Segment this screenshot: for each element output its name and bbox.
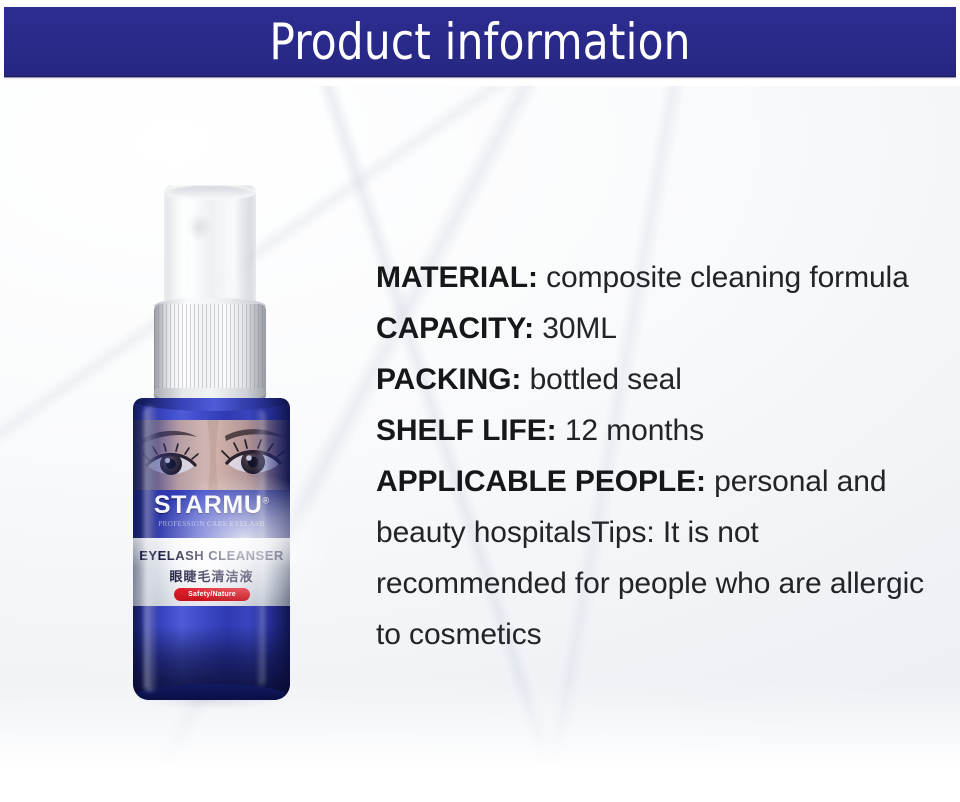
spec-label-capacity: CAPACITY: xyxy=(376,312,534,345)
brand-tagline: PROFESSION CARE EYELASH xyxy=(133,520,290,528)
spec-row-applicable-people: APPLICABLE PEOPLE: personal and beauty h… xyxy=(376,456,948,660)
label-eyes-photo xyxy=(133,420,290,496)
header-banner: Product information xyxy=(4,7,956,76)
product-spec-list: MATERIAL: composite cleaning formula CAP… xyxy=(376,252,948,660)
product-name-cn: 眼睫毛清洁液 xyxy=(133,566,290,585)
spec-value-capacity: 30ML xyxy=(542,312,617,345)
registered-trademark-icon: ® xyxy=(263,496,270,506)
spec-label-shelf-life: SHELF LIFE: xyxy=(376,414,557,447)
spec-row-packing: PACKING: bottled seal xyxy=(376,354,948,405)
spec-row-material: MATERIAL: composite cleaning formula xyxy=(376,252,948,303)
spec-row-shelf-life: SHELF LIFE: 12 months xyxy=(376,405,948,456)
spec-label-applicable-people: APPLICABLE PEOPLE: xyxy=(376,465,706,498)
bottle-overcap xyxy=(164,185,256,309)
spec-value-packing: bottled seal xyxy=(530,363,682,396)
spec-label-material: MATERIAL: xyxy=(376,261,538,294)
brand-name: STARMU® xyxy=(133,491,290,520)
product-information-page: Product information xyxy=(0,0,960,802)
spec-value-material: composite cleaning formula xyxy=(546,261,909,294)
bottle-body: STARMU® PROFESSION CARE EYELASH EYELASH … xyxy=(133,398,290,700)
spec-label-packing: PACKING: xyxy=(376,363,521,396)
bottle-collar-shading xyxy=(154,304,266,400)
product-name-en: EYELASH CLEANSER xyxy=(133,548,290,563)
eyes-illustration xyxy=(133,420,290,496)
header-banner-area: Product information xyxy=(0,0,960,86)
page-title: Product information xyxy=(33,7,928,76)
spec-row-capacity: CAPACITY: 30ML xyxy=(376,303,948,354)
bottle-overcap-inner-rim xyxy=(172,188,248,197)
bottle-overcap-highlight xyxy=(180,196,195,300)
brand-name-text: STARMU xyxy=(154,491,263,519)
bottle-overcap-highlight-right xyxy=(232,198,241,298)
safety-badge: Safety/Nature xyxy=(174,588,250,601)
product-bottle-image: STARMU® PROFESSION CARE EYELASH EYELASH … xyxy=(128,180,304,710)
spec-value-shelf-life: 12 months xyxy=(565,414,704,447)
bottle-shoulder xyxy=(133,398,290,411)
